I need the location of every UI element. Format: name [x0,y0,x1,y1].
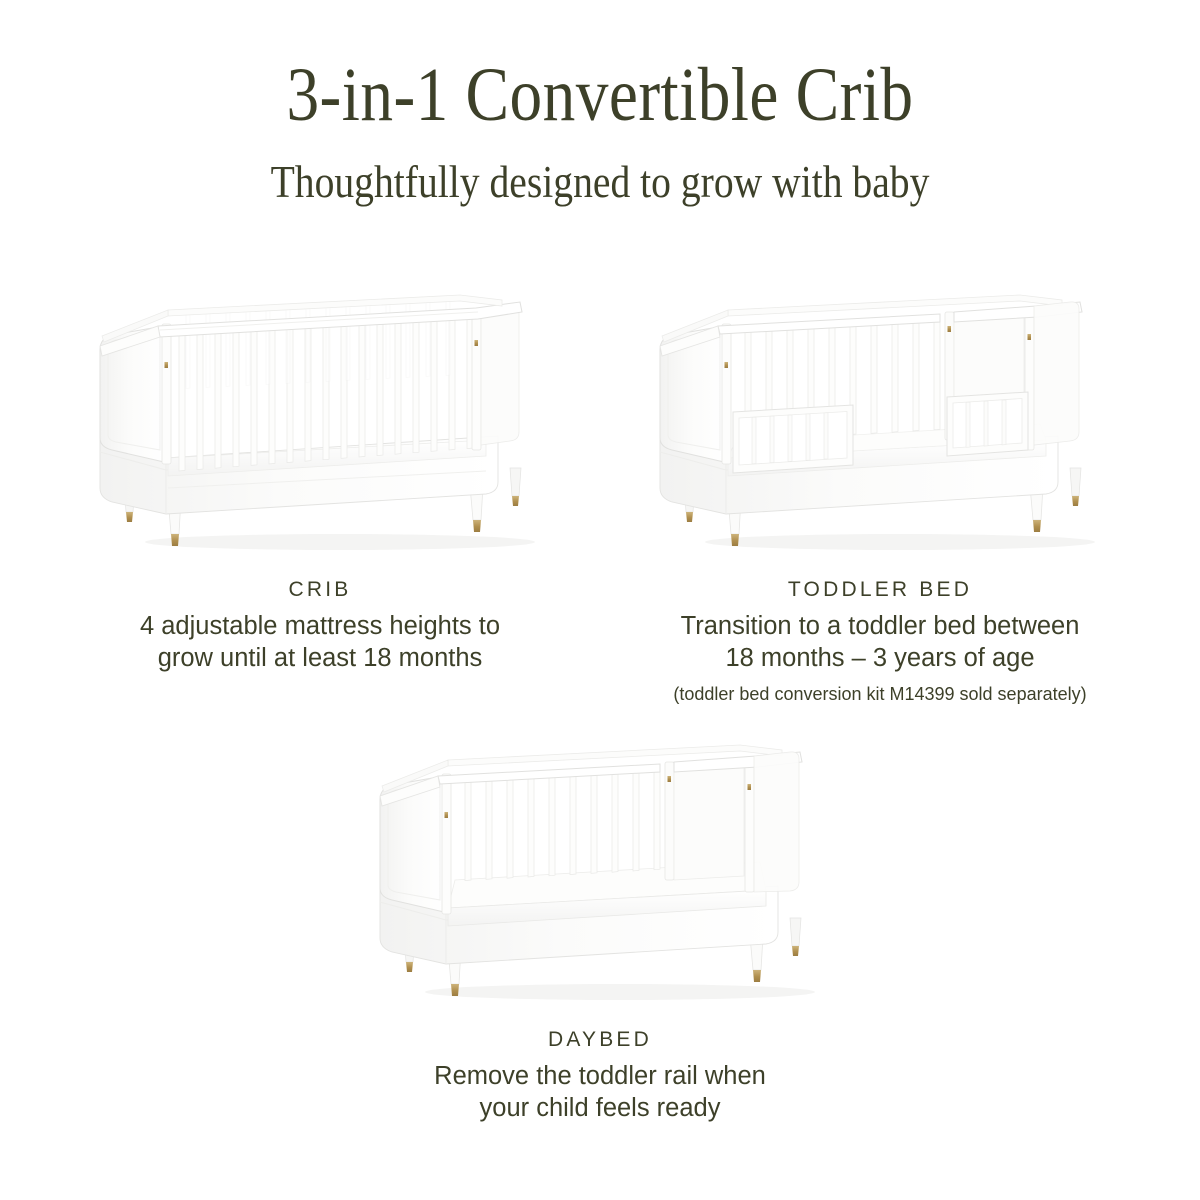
floor-shadow [145,534,535,550]
crib-left-corner-post [162,324,171,464]
product-card-crib: CRIB 4 adjustable mattress heights to gr… [40,290,600,674]
product-description-toddler-bed: Transition to a toddler bed between 18 m… [600,610,1160,674]
product-note-toddler-bed: (toddler bed conversion kit M14399 sold … [600,682,1160,706]
product-description-daybed: Remove the toddler rail when your child … [320,1060,880,1124]
bracket-icon [475,340,479,346]
product-card-toddler-bed: TODDLER BED Transition to a toddler bed … [600,290,1160,706]
toddler-bed-illustration [600,290,1160,560]
crib-right-end-panel [481,304,519,445]
floor-shadow [425,984,815,1000]
toddler-guard-rail-left [733,405,853,473]
bracket-icon [165,362,169,368]
toddler-bed-left-corner-post [722,324,731,464]
crib-image-stage [40,290,600,560]
product-description-crib: 4 adjustable mattress heights to grow un… [40,610,600,674]
daybed-right-end-panel [754,752,799,892]
crib-right-corner-post [472,310,481,450]
daybed-left-corner-post [442,774,451,914]
page-subtitle: Thoughtfully designed to grow with baby [72,156,1128,208]
page-title: 3-in-1 Convertible Crib [84,52,1116,138]
daybed-image-stage [320,740,880,1010]
toddler-guard-rail-right [947,392,1028,456]
bracket-icon [1028,334,1032,340]
daybed-back-slats [465,765,660,881]
daybed-center-post [665,762,674,880]
floor-shadow [705,534,1095,550]
bracket-icon [725,362,729,368]
page-header: 3-in-1 Convertible Crib Thoughtfully des… [0,52,1200,208]
product-label-toddler-bed: TODDLER BED [600,578,1160,602]
daybed-right-corner-post [745,758,754,892]
toddler-bed-image-stage [600,290,1160,560]
product-card-daybed: DAYBED Remove the toddler rail when your… [320,740,880,1124]
toddler-bed-right-end-panel [1034,302,1079,445]
product-label-daybed: DAYBED [320,1028,880,1052]
daybed-right-back-panel [674,758,744,880]
daybed-illustration [320,740,880,1010]
bracket-icon [445,812,449,818]
bracket-icon [948,326,952,332]
crib-illustration [40,290,600,560]
bracket-icon [748,784,752,790]
bracket-icon [668,776,672,782]
product-label-crib: CRIB [40,578,600,602]
